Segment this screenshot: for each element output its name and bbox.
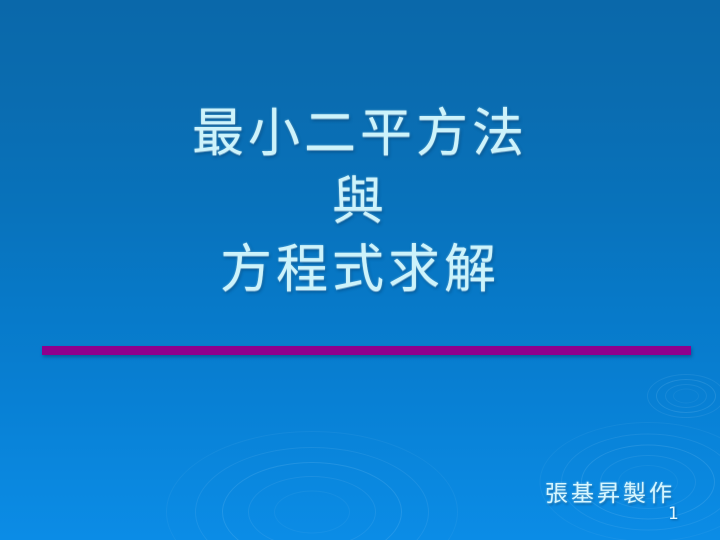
presentation-slide: 最小二平方法 與 方程式求解 張基昇製作 1 <box>0 0 720 540</box>
slide-title: 最小二平方法 與 方程式求解 <box>0 108 720 296</box>
footer-author-credit: 張基昇製作 <box>545 474 675 508</box>
title-line-2: 與 <box>0 176 720 228</box>
slide-page-number: 1 <box>668 504 679 524</box>
title-divider-bar <box>42 346 691 355</box>
title-line-3: 方程式求解 <box>0 244 720 296</box>
title-line-1: 最小二平方法 <box>0 108 720 160</box>
